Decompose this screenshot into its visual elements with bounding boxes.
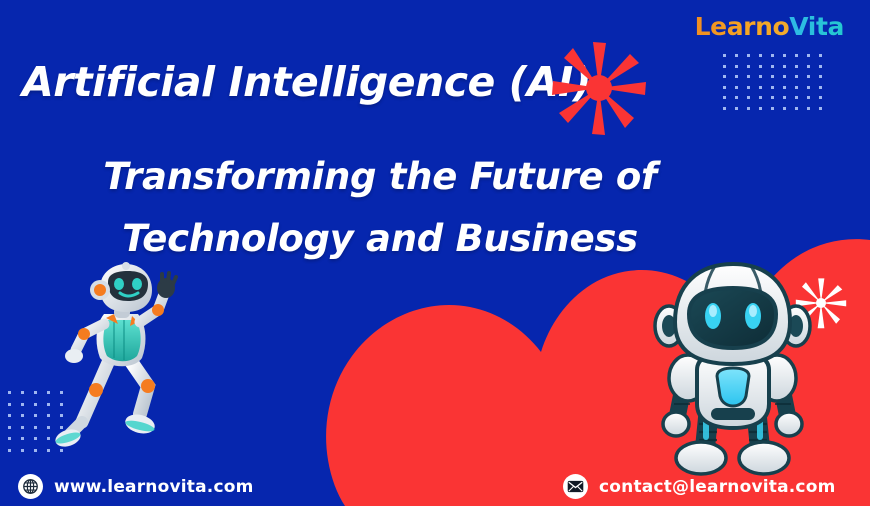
grid-dot [47,426,50,429]
footer-email[interactable]: contact@learnovita.com [563,474,836,499]
grid-dot [747,65,750,68]
grid-dot [795,107,798,110]
grid-dot [807,96,810,99]
grid-dot [8,403,11,406]
running-robot-illustration [52,262,207,457]
grid-dot [723,75,726,78]
grid-dot [723,107,726,110]
grid-dot [747,86,750,89]
grid-dot [795,54,798,57]
grid-dot [47,437,50,440]
globe-icon [18,474,43,499]
grid-dot [795,65,798,68]
grid-dot [21,437,24,440]
grid-dot [819,65,822,68]
grid-dot [735,107,738,110]
grid-dot [747,75,750,78]
grid-dot [21,391,24,394]
grid-dot [34,391,37,394]
grid-dot [735,54,738,57]
grid-dot [819,75,822,78]
grid-dot [21,403,24,406]
grid-dot [21,449,24,452]
grid-dot [819,54,822,57]
grid-dot [34,403,37,406]
grid-dot [771,96,774,99]
grid-dot [807,86,810,89]
grid-dot [807,107,810,110]
grid-dot [34,426,37,429]
grid-dot [735,96,738,99]
grid-dot [807,54,810,57]
grid-dot [747,107,750,110]
grid-dot [759,54,762,57]
grid-dot [759,107,762,110]
grid-dot [47,391,50,394]
grid-dot [771,65,774,68]
grid-dot [8,426,11,429]
grid-dot [723,96,726,99]
page-subtitle: Transforming the Future of Technology an… [0,146,760,270]
grid-dot [8,414,11,417]
grid-dot [771,75,774,78]
envelope-icon [563,474,588,499]
grid-dot [759,65,762,68]
grid-dot [783,107,786,110]
grid-dot [795,75,798,78]
grid-dot [759,96,762,99]
grid-dot [21,426,24,429]
grid-dot [819,96,822,99]
grid-dot [747,96,750,99]
mascot-robot-illustration [645,258,820,486]
grid-dot [759,86,762,89]
grid-dot [735,65,738,68]
grid-dot [783,65,786,68]
grid-dot [819,107,822,110]
dot-grid-top-right [723,54,827,110]
grid-dot [735,75,738,78]
grid-dot [21,414,24,417]
grid-dot [783,75,786,78]
grid-dot [723,86,726,89]
grid-dot [34,414,37,417]
subtitle-line-1: Transforming the Future of [103,155,657,198]
grid-dot [8,437,11,440]
grid-dot [771,107,774,110]
promo-banner: LearnoVita Artificial Intelligence (AI) [0,0,870,506]
grid-dot [795,86,798,89]
grid-dot [819,86,822,89]
grid-dot [759,75,762,78]
grid-dot [723,65,726,68]
footer-email-label: contact@learnovita.com [599,477,836,497]
footer-website-label: www.learnovita.com [54,477,254,497]
grid-dot [34,437,37,440]
logo-text-learno: Learno [695,12,790,41]
grid-dot [795,96,798,99]
grid-dot [723,54,726,57]
grid-dot [34,449,37,452]
grid-dot [8,391,11,394]
grid-dot [771,86,774,89]
grid-dot [8,449,11,452]
grid-dot [783,54,786,57]
grid-dot [47,449,50,452]
grid-dot [771,54,774,57]
grid-dot [783,96,786,99]
grid-dot [783,86,786,89]
footer-website[interactable]: www.learnovita.com [18,474,254,499]
grid-dot [807,65,810,68]
learnovita-logo[interactable]: LearnoVita [695,12,844,41]
grid-dot [47,403,50,406]
logo-text-vita: Vita [789,12,844,41]
asterisk-icon-red [549,38,649,138]
grid-dot [747,54,750,57]
grid-dot [735,86,738,89]
grid-dot [807,75,810,78]
grid-dot [47,414,50,417]
